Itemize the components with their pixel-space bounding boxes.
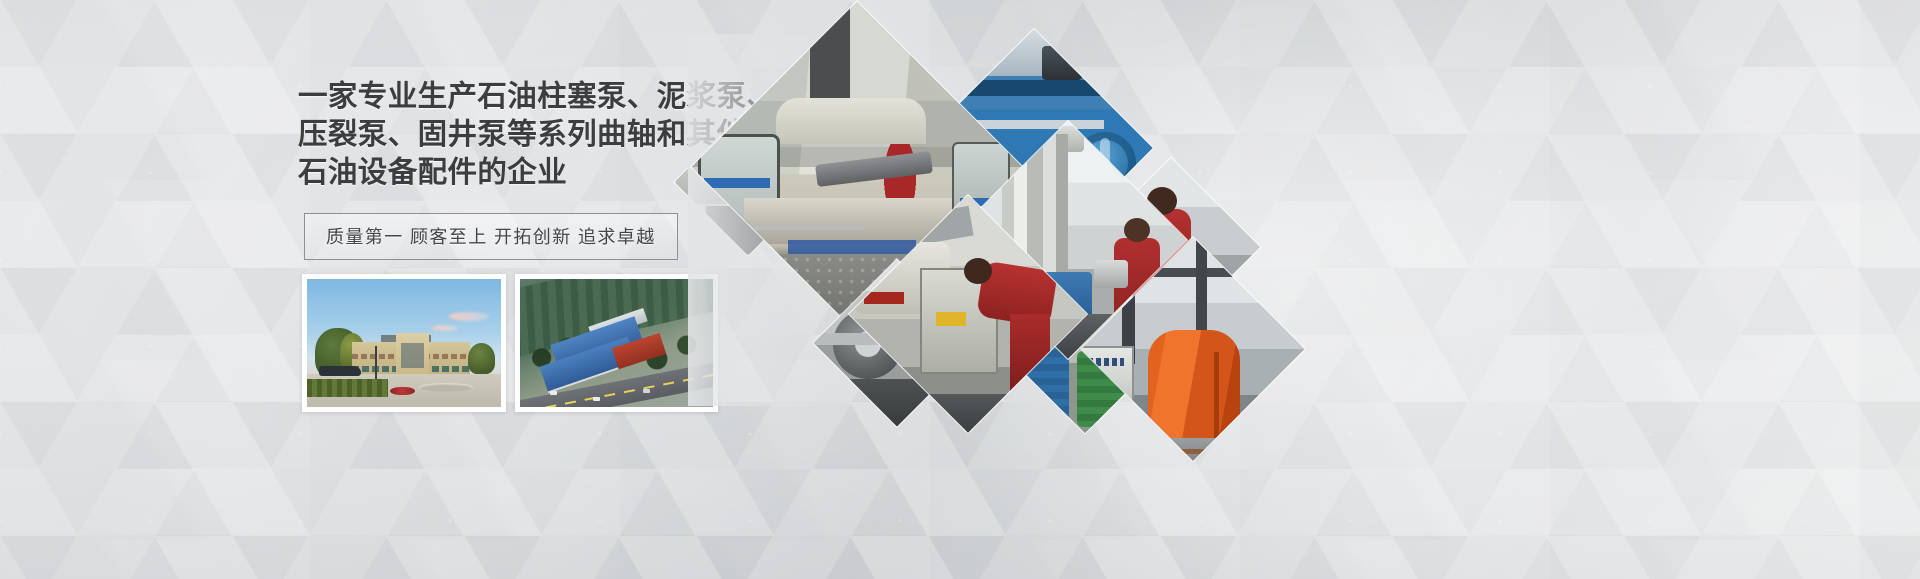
parked-car	[319, 366, 362, 376]
lathe-motor	[1042, 46, 1082, 80]
photo-office-building[interactable]	[302, 274, 506, 412]
hero-banner: 一家专业生产石油柱塞泵、泥浆泵、 压裂泵、固井泵等系列曲轴和其他 石油设备配件的…	[0, 0, 1920, 579]
headline-line-3: 石油设备配件的企业	[298, 154, 718, 192]
lathe-ceiling	[915, 29, 1153, 76]
factory-aerial-image	[520, 279, 714, 407]
page-title: 一家专业生产石油柱塞泵、泥浆泵、 压裂泵、固井泵等系列曲轴和其他 石油设备配件的…	[298, 78, 718, 192]
cloud-shape	[449, 312, 489, 321]
tree-shape-3	[468, 343, 495, 374]
fountain-shape	[419, 383, 473, 392]
banner-text-column: 一家专业生产石油柱塞泵、泥浆泵、 压裂泵、固井泵等系列曲轴和其他 石油设备配件的…	[298, 78, 718, 412]
steel-girder-2	[1196, 237, 1207, 344]
car-shape-2	[593, 397, 600, 401]
slogan-text: 质量第一 顾客至上 开拓创新 追求卓越	[326, 223, 656, 249]
car-shape-3	[643, 389, 650, 393]
photo-strip	[302, 274, 718, 412]
car-shape-1	[550, 391, 557, 395]
workpiece	[1094, 260, 1128, 288]
street-lamp	[375, 346, 377, 379]
worker-head	[1124, 218, 1150, 242]
cloud-shape-2	[432, 325, 458, 331]
machine-arm	[815, 151, 933, 187]
yellow-warning	[936, 312, 966, 326]
worker-head-2	[964, 258, 992, 284]
diamond-photo-collage	[688, 34, 1288, 406]
headline-line-1: 一家专业生产石油柱塞泵、泥浆泵、	[298, 78, 718, 116]
lathe-bar	[922, 80, 1146, 96]
office-building-image	[307, 279, 501, 407]
hedge-shape	[307, 379, 388, 397]
headline-line-2: 压裂泵、固井泵等系列曲轴和其他	[298, 116, 718, 154]
machine-hood	[776, 98, 926, 144]
machine-label	[704, 178, 770, 188]
slogan-box: 质量第一 顾客至上 开拓创新 追求卓越	[304, 213, 678, 260]
